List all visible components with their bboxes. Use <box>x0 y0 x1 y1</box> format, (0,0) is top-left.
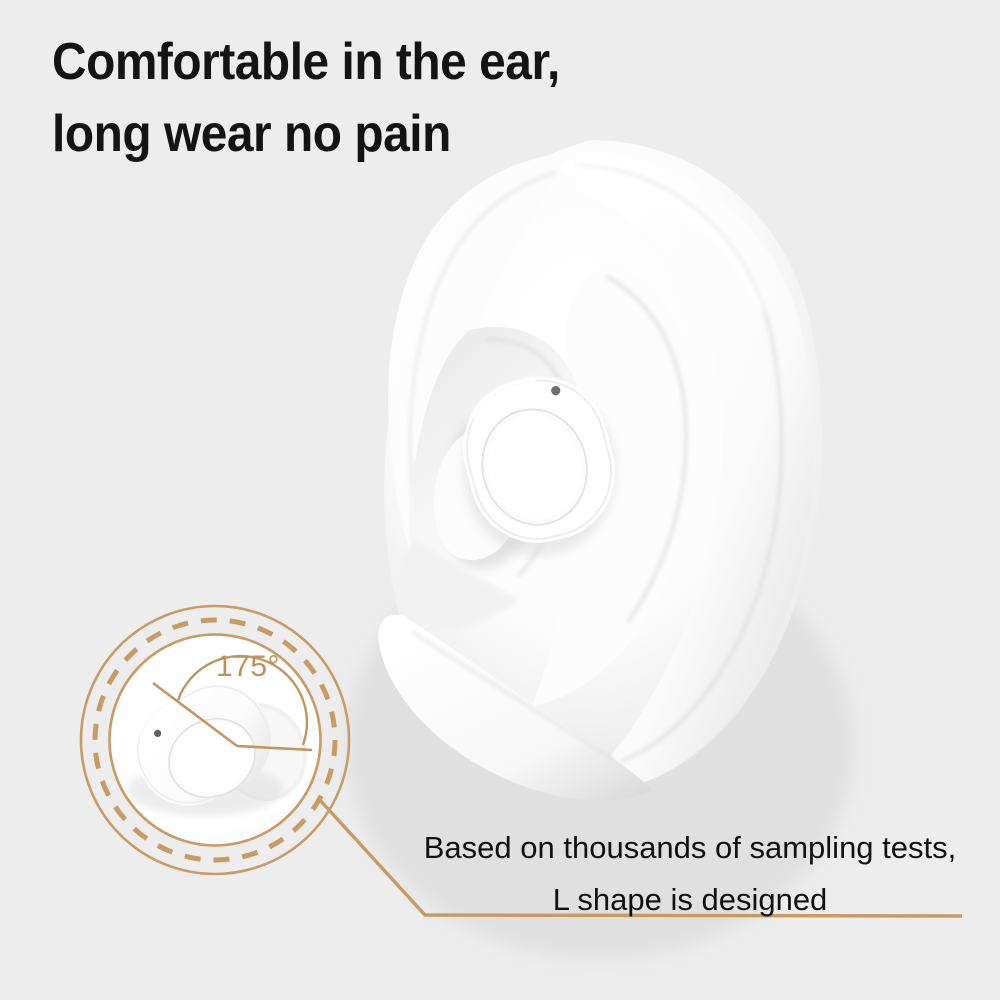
page-title: Comfortable in the ear, long wear no pai… <box>52 26 714 170</box>
headline-line-2: long wear no pain <box>52 98 714 170</box>
caption-line-2: L shape is designed <box>400 874 980 926</box>
headline-line-1: Comfortable in the ear, <box>52 26 714 98</box>
callout-caption: Based on thousands of sampling tests, L … <box>400 822 980 926</box>
marketing-image-canvas: Comfortable in the ear, long wear no pai… <box>0 0 1000 1000</box>
angle-value-label: 175° <box>216 652 280 682</box>
caption-line-1: Based on thousands of sampling tests, <box>400 822 980 874</box>
